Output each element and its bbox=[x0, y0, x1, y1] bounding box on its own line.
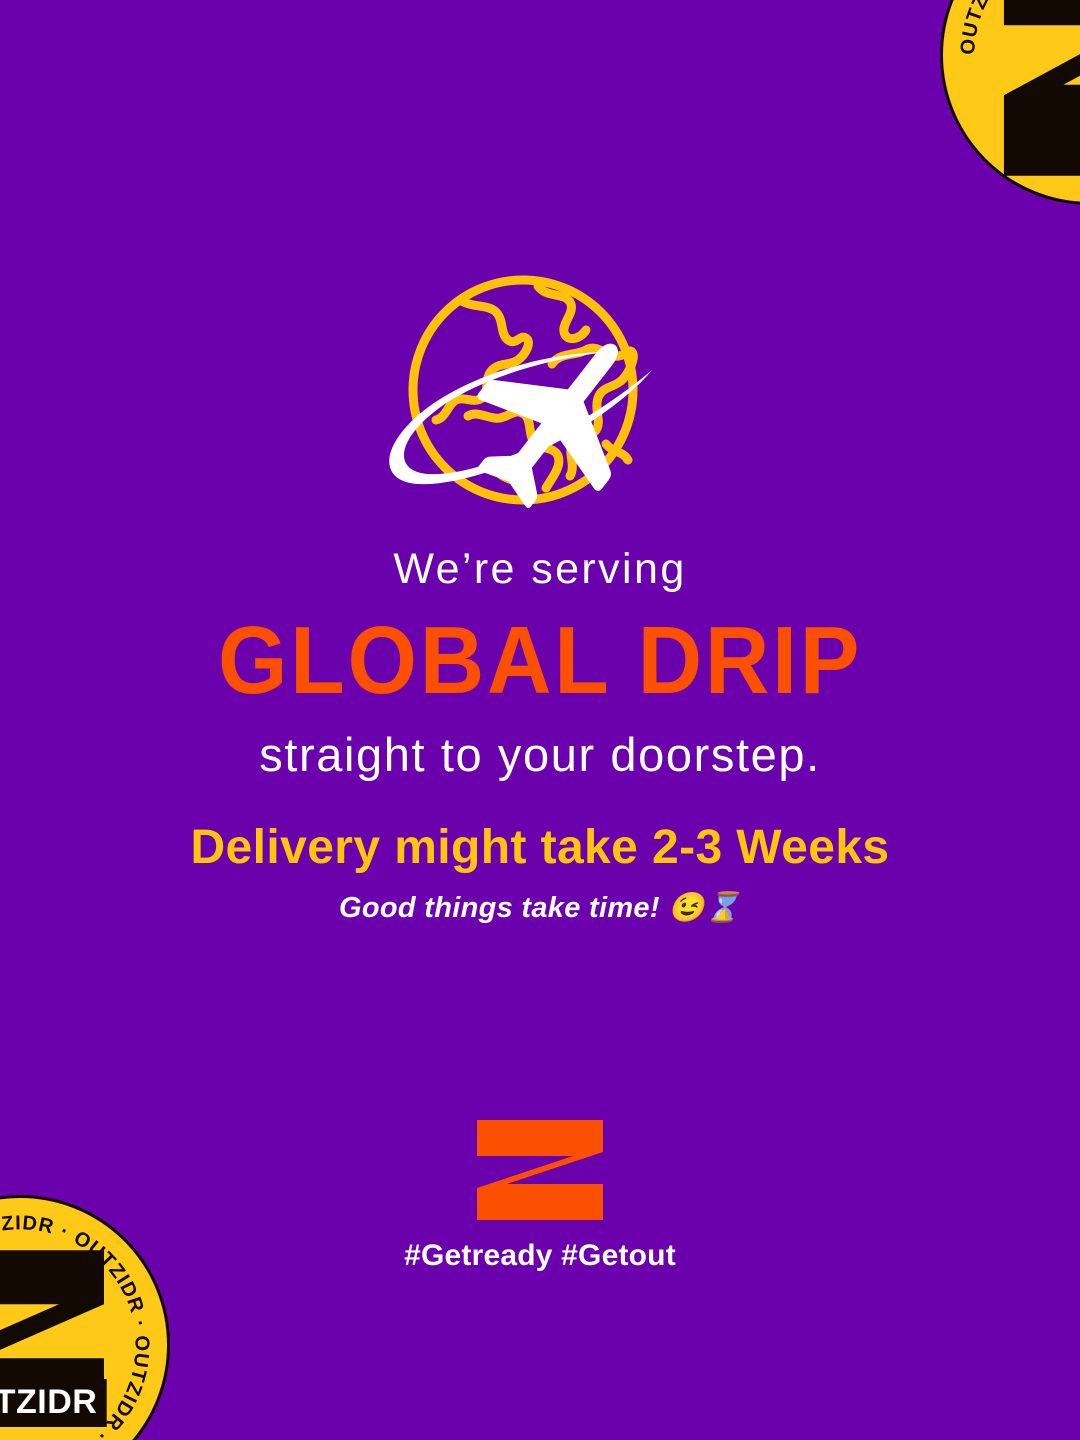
outzidr-z-logo-icon bbox=[993, 0, 1080, 186]
outzidr-wordmark: OUTZIDR bbox=[0, 1379, 106, 1427]
tail-line: straight to your doorstep. bbox=[0, 731, 1080, 778]
delivery-note: Delivery might take 2-3 Weeks Good thing… bbox=[0, 822, 1080, 925]
wordmark-suffix: IDR bbox=[37, 1383, 97, 1421]
headline-block: We’re serving GLOBAL DRIP straight to yo… bbox=[0, 548, 1080, 778]
delivery-subtext: Good things take time! 😉⌛ bbox=[0, 893, 1080, 925]
delivery-headline: Delivery might take 2-3 Weeks bbox=[0, 822, 1080, 875]
promo-poster: OUTZIDR · OUTZIDR · OUTZIDR · OUTZIDR · … bbox=[0, 0, 1080, 1440]
outzidr-z-logo-icon bbox=[477, 1120, 603, 1220]
hero-artwork bbox=[0, 268, 1080, 518]
footer-block: #Getready #Getout bbox=[0, 1120, 1080, 1273]
badge-top-right: OUTZIDR · OUTZIDR · OUTZIDR · OUTZIDR · bbox=[940, 0, 1080, 205]
wordmark-zed: Z bbox=[16, 1383, 37, 1421]
page-title: GLOBAL DRIP bbox=[38, 613, 1042, 709]
globe-with-airplane-icon bbox=[360, 268, 720, 518]
hashtags-line: #Getready #Getout bbox=[0, 1239, 1080, 1273]
kicker-line: We’re serving bbox=[0, 548, 1080, 591]
wordmark-prefix: OUT bbox=[0, 1383, 16, 1421]
